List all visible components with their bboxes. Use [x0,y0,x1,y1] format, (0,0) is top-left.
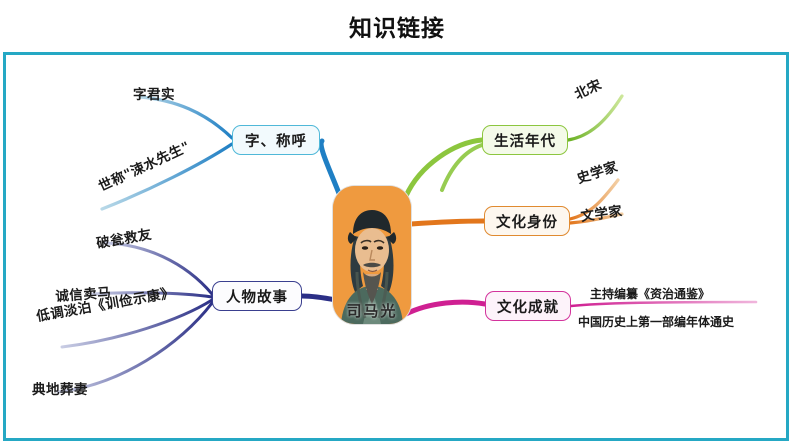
page-title: 知识链接 [349,9,445,43]
center-node-label: 司马光 [333,300,411,321]
branch-node-wenhua-chengjiu[interactable]: 文化成就 [485,291,571,321]
branch-node-zi-chenghu[interactable]: 字、称呼 [232,125,320,155]
branch-node-renwu-gushi[interactable]: 人物故事 [212,281,302,311]
leaf-label-zi-junshi: 字君实 [133,83,175,103]
slide-page: 知识链接 [0,0,794,447]
leaf-label-zhuchi-bianzuan-zizhitongjian: 主持编纂《资治通鉴》 [590,285,710,302]
leaf-label-zhongguo-lishi-biannianti-tongshi: 中国历史上第一部编年体通史 [578,313,734,330]
slide-title-bar: 知识链接 [0,0,794,52]
branch-node-wenhua-shenfen[interactable]: 文化身份 [484,206,570,236]
leaf-label-diandi-zangqi: 典地葬妻 [32,378,88,398]
branch-node-shenghuo-niandai[interactable]: 生活年代 [482,125,568,155]
